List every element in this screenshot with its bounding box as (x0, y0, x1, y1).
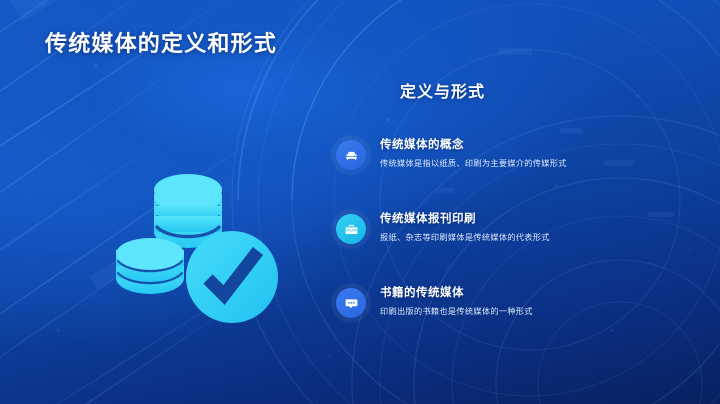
check-circle (186, 231, 278, 323)
feature-description: 报纸、杂志等印刷媒体是传统媒体的代表形式 (380, 231, 610, 245)
page-title: 传统媒体的定义和形式 (45, 26, 277, 58)
feature-title: 传统媒体的概念 (380, 138, 666, 153)
feature-item[interactable]: 传统媒体报刊印刷 报纸、杂志等印刷媒体是传统媒体的代表形式 (336, 212, 666, 252)
feature-item[interactable]: 传统媒体的概念 传统媒体是指以纸质、印刷为主要媒介的传媒形式 (336, 138, 666, 178)
sofa-icon (336, 140, 366, 170)
section-subtitle: 定义与形式 (310, 78, 575, 102)
feature-item[interactable]: 书籍的传统媒体 印刷出版的书籍也是传统媒体的一种形式 (336, 286, 666, 326)
feature-description: 传统媒体是指以纸质、印刷为主要媒介的传媒形式 (380, 157, 610, 171)
briefcase-icon (336, 214, 366, 244)
feature-title: 传统媒体报刊印刷 (380, 212, 666, 227)
coin-stack-front (116, 238, 184, 294)
chat-bubble-icon (336, 288, 366, 318)
slide-root: 传统媒体的定义和形式 定义与形式 (0, 0, 720, 404)
coin-stacks-with-check-illustration (110, 160, 306, 332)
feature-description: 印刷出版的书籍也是传统媒体的一种形式 (380, 305, 610, 319)
feature-list: 传统媒体的概念 传统媒体是指以纸质、印刷为主要媒介的传媒形式 传统媒体报刊印刷 … (336, 138, 666, 326)
feature-title: 书籍的传统媒体 (380, 286, 666, 301)
